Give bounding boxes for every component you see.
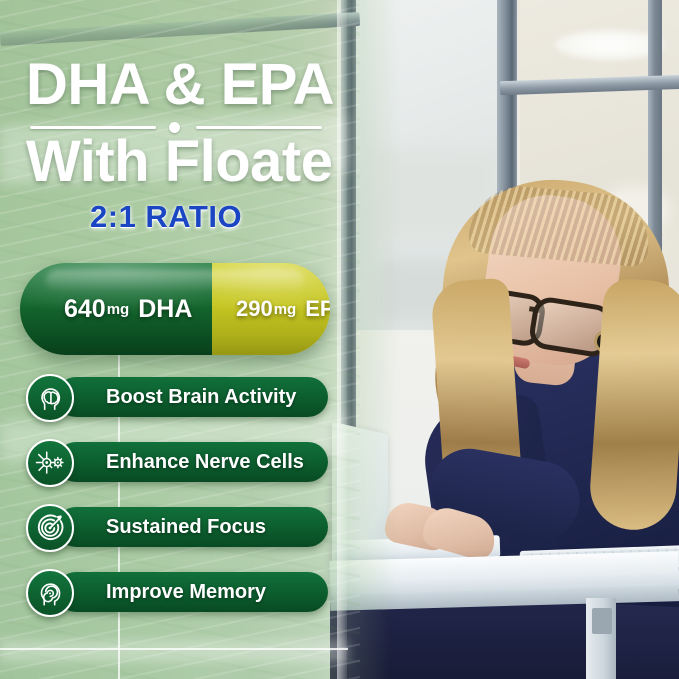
benefit-row: Sustained Focus: [26, 504, 328, 550]
epa-amount: 290: [236, 296, 273, 322]
benefits-list: Boost Brain Activity Enhance Nerve Cells: [26, 374, 328, 634]
head-spiral-icon: [26, 569, 74, 617]
benefit-pill: Sustained Focus: [56, 507, 328, 547]
dha-name: DHA: [138, 295, 192, 324]
benefit-row: Improve Memory: [26, 569, 328, 615]
capsule-epa-text: 290 mg EPA: [236, 263, 330, 355]
benefit-label: Boost Brain Activity: [106, 386, 296, 409]
capsule-graphic: 640 mg DHA 290 mg EPA: [20, 263, 330, 355]
benefit-row: Boost Brain Activity: [26, 374, 328, 420]
product-infographic: DHA & EPA With Floate 2:1 RATIO 640 mg D…: [0, 0, 679, 679]
headline-line-1: DHA & EPA: [26, 56, 334, 114]
target-dart-icon: [26, 504, 74, 552]
brain-head-icon: [26, 374, 74, 422]
content-layer: DHA & EPA With Floate 2:1 RATIO 640 mg D…: [0, 0, 679, 679]
neuron-icon: [26, 439, 74, 487]
benefit-pill: Boost Brain Activity: [56, 377, 328, 417]
dha-unit: mg: [107, 301, 130, 318]
benefit-row: Enhance Nerve Cells: [26, 439, 328, 485]
ratio-label: 2:1 RATIO: [90, 199, 242, 235]
benefit-label: Enhance Nerve Cells: [106, 451, 304, 474]
epa-unit: mg: [274, 301, 297, 318]
dha-amount: 640: [64, 295, 106, 324]
benefit-label: Sustained Focus: [106, 516, 266, 539]
headline-line-2: With Floate: [26, 133, 333, 191]
benefit-label: Improve Memory: [106, 581, 266, 604]
benefit-pill: Enhance Nerve Cells: [56, 442, 328, 482]
capsule-dha-text: 640 mg DHA: [64, 263, 192, 355]
epa-name: EPA: [305, 296, 330, 322]
benefit-pill: Improve Memory: [56, 572, 328, 612]
